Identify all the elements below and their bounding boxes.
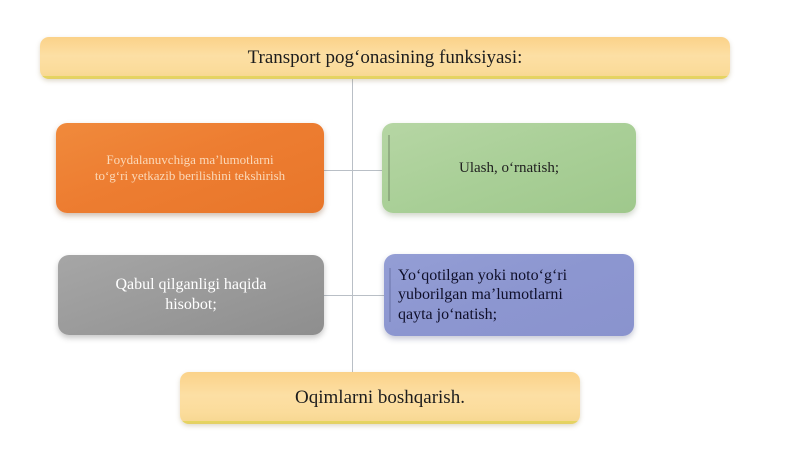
node-resend-lost-data-label: Yo‘qotilgan yoki noto‘g‘ri yuborilgan ma… [384, 266, 634, 325]
connector-branch-upper [324, 170, 384, 171]
node-connect-establish[interactable]: Ulash, o‘rnatish; [382, 123, 636, 213]
connector-trunk-vertical [352, 79, 353, 372]
node-connect-establish-label: Ulash, o‘rnatish; [382, 159, 636, 177]
flow-control-banner[interactable]: Oqimlarni boshqarish. [180, 372, 580, 424]
title-banner[interactable]: Transport pog‘onasining funksiyasi: [40, 37, 730, 79]
node-verify-delivery-label: Foydalanuvchiga ma’lumotlarni to‘g‘ri ye… [56, 152, 324, 184]
connector-branch-lower [324, 295, 386, 296]
node-resend-lost-data[interactable]: Yo‘qotilgan yoki noto‘g‘ri yuborilgan ma… [384, 254, 634, 336]
node-blue-edge-seam [389, 268, 391, 322]
flow-control-banner-label: Oqimlarni boshqarish. [180, 386, 580, 409]
title-banner-label: Transport pog‘onasining funksiyasi: [40, 46, 730, 69]
node-verify-delivery[interactable]: Foydalanuvchiga ma’lumotlarni to‘g‘ri ye… [56, 123, 324, 213]
node-receipt-report-label: Qabul qilganligi haqida hisobot; [58, 275, 324, 314]
diagram-canvas: Transport pog‘onasining funksiyasi: Foyd… [0, 0, 800, 449]
node-green-edge-seam [388, 135, 390, 201]
node-receipt-report[interactable]: Qabul qilganligi haqida hisobot; [58, 255, 324, 335]
